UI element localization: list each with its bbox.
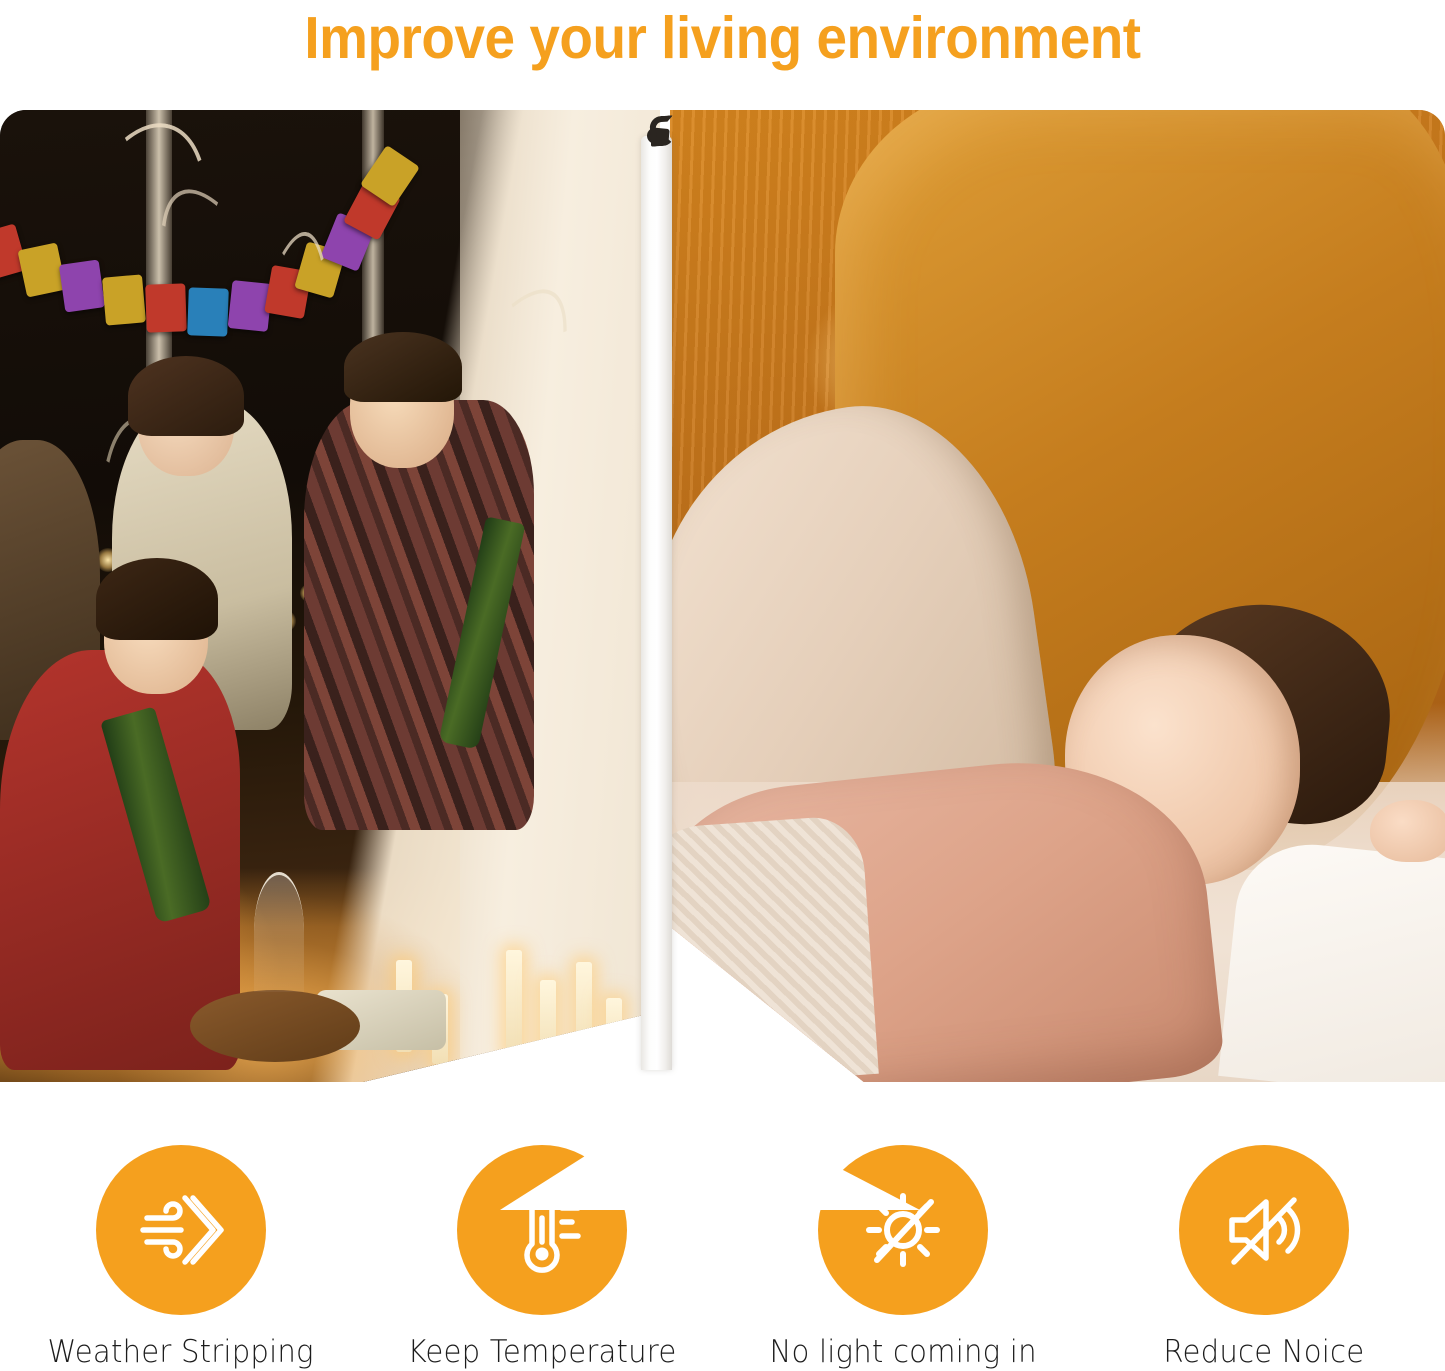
feature-reduce-noise[interactable]: Reduce Noice <box>1084 1145 1445 1371</box>
seated-woman-hair <box>96 558 218 640</box>
new-year-party-photo <box>0 110 660 1082</box>
product-feature-banner: Improve your living environment <box>0 0 1445 1371</box>
candle <box>540 980 556 1064</box>
sleeping-child-photo <box>670 110 1445 1082</box>
speaker-mute-icon <box>1216 1182 1312 1278</box>
feature-icon-badge <box>96 1145 266 1315</box>
child-hand <box>1370 800 1445 862</box>
feature-weather-stripping[interactable]: Weather Stripping <box>0 1145 361 1371</box>
weather-strip-divider <box>641 110 672 1070</box>
candle <box>576 962 592 1060</box>
weather-strip-body <box>641 136 672 1070</box>
knit-blanket <box>670 814 879 1082</box>
champagne-glass <box>254 872 304 992</box>
wind-arrow-icon <box>133 1182 229 1278</box>
feature-icon-badge <box>1179 1145 1349 1315</box>
child-nightgown <box>1218 837 1445 1082</box>
woman-hair <box>128 356 244 436</box>
page-headline: Improve your living environment <box>51 2 1395 74</box>
candle <box>606 998 622 1064</box>
wooden-bowl <box>190 990 360 1062</box>
feature-label: Keep Temperature <box>407 1333 676 1371</box>
weather-strip-rubber-seal <box>649 115 675 147</box>
feature-label: Reduce Noice <box>1164 1333 1365 1371</box>
man-hair <box>344 332 462 402</box>
candle <box>506 950 522 1056</box>
feature-label: Weather Stripping <box>48 1333 314 1371</box>
photo-band <box>0 110 1445 1085</box>
feature-label: No light coming in <box>770 1333 1037 1371</box>
